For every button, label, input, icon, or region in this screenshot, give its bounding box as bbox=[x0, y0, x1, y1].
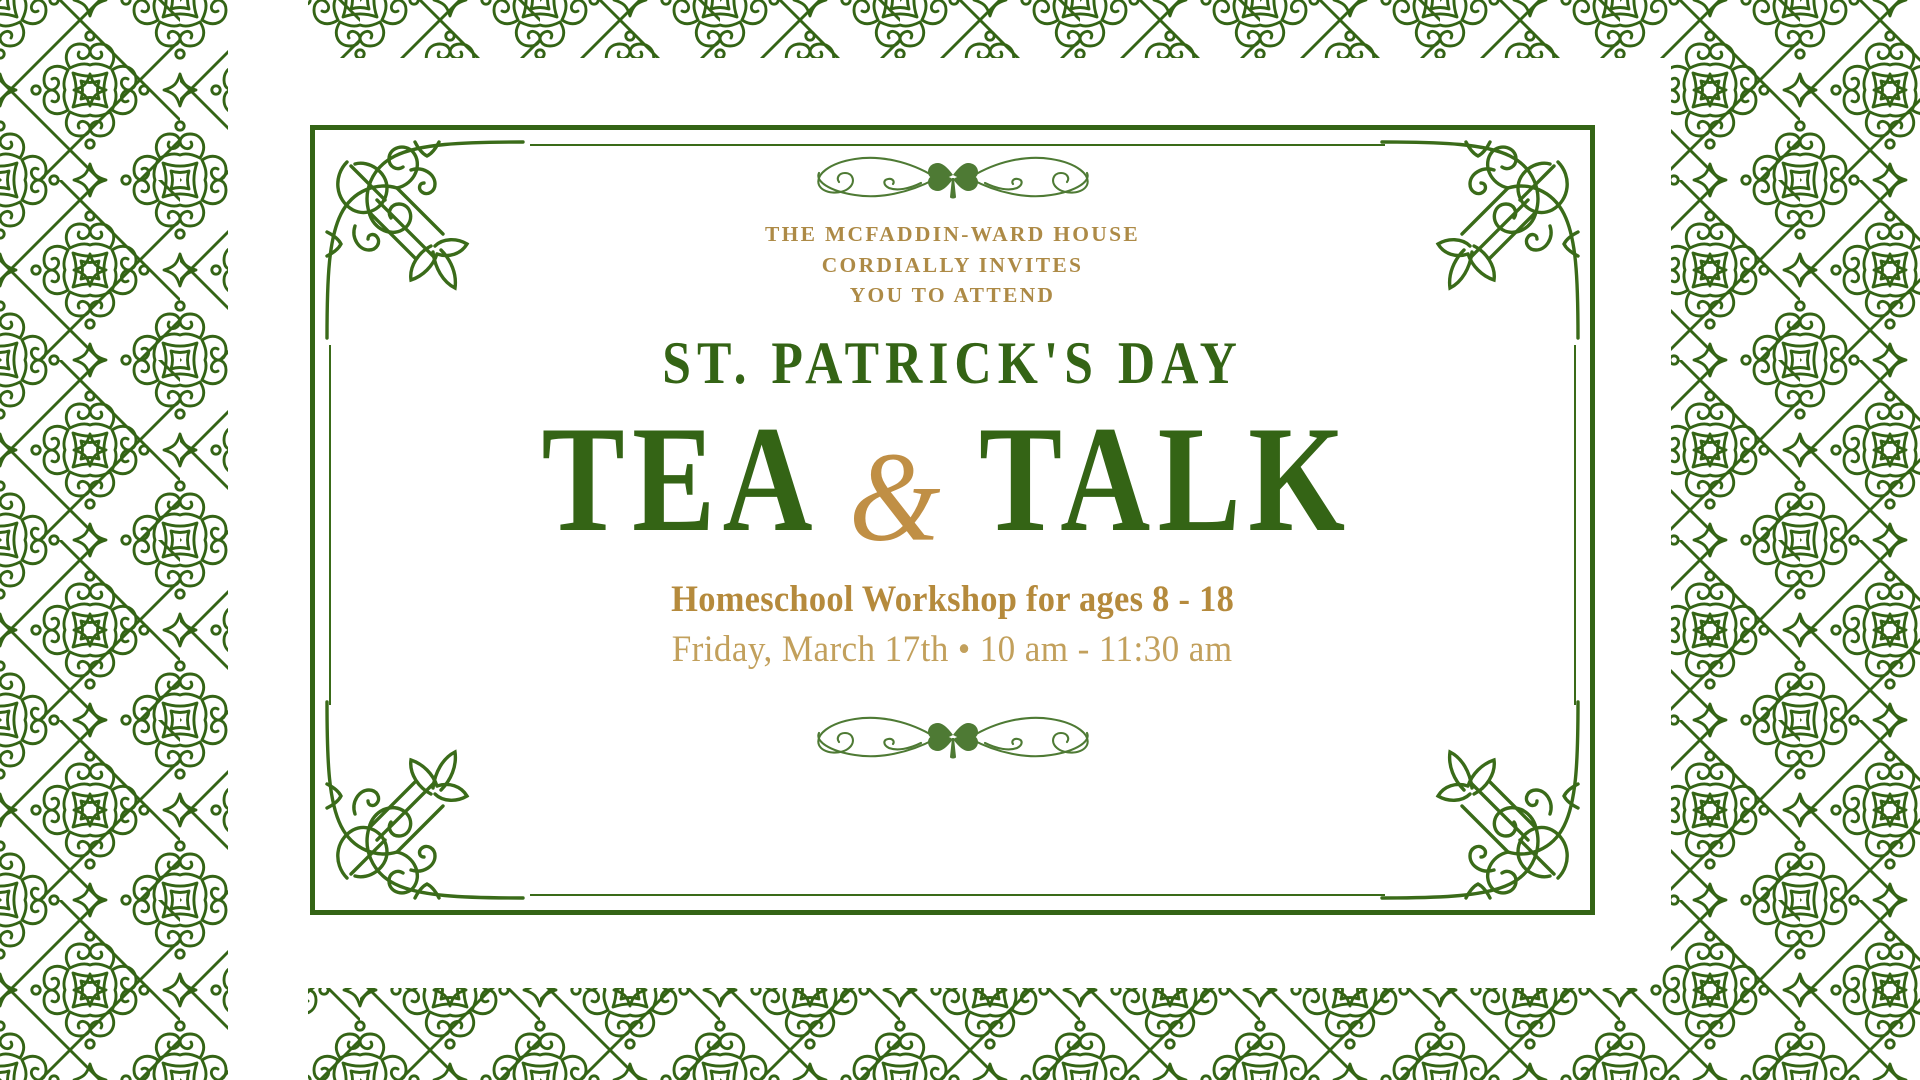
event-wordmark: TEA&TALK bbox=[511, 407, 1394, 553]
wordmark-tea: TEA bbox=[542, 407, 820, 553]
clover-flourish-divider-top bbox=[783, 149, 1123, 205]
kicker-line-1: THE MCFADDIN-WARD HOUSE bbox=[765, 219, 1140, 250]
audience-line: Homeschool Workshop for ages 8 - 18 bbox=[671, 578, 1234, 621]
occasion-title: ST. PATRICK'S DAY bbox=[662, 333, 1243, 393]
kicker-line-3: YOU TO ATTEND bbox=[765, 280, 1140, 311]
wordmark-ampersand: & bbox=[849, 436, 941, 559]
card-left-bleed bbox=[228, 0, 308, 1080]
wordmark-talk: TALK bbox=[979, 407, 1352, 553]
clover-flourish-divider-bottom bbox=[783, 709, 1123, 765]
invitation-kicker: THE MCFADDIN-WARD HOUSE CORDIALLY INVITE… bbox=[765, 219, 1140, 311]
kicker-line-2: CORDIALLY INVITES bbox=[765, 250, 1140, 281]
datetime-line: Friday, March 17th • 10 am - 11:30 am bbox=[672, 628, 1233, 671]
invitation-content: THE MCFADDIN-WARD HOUSE CORDIALLY INVITE… bbox=[310, 125, 1595, 915]
